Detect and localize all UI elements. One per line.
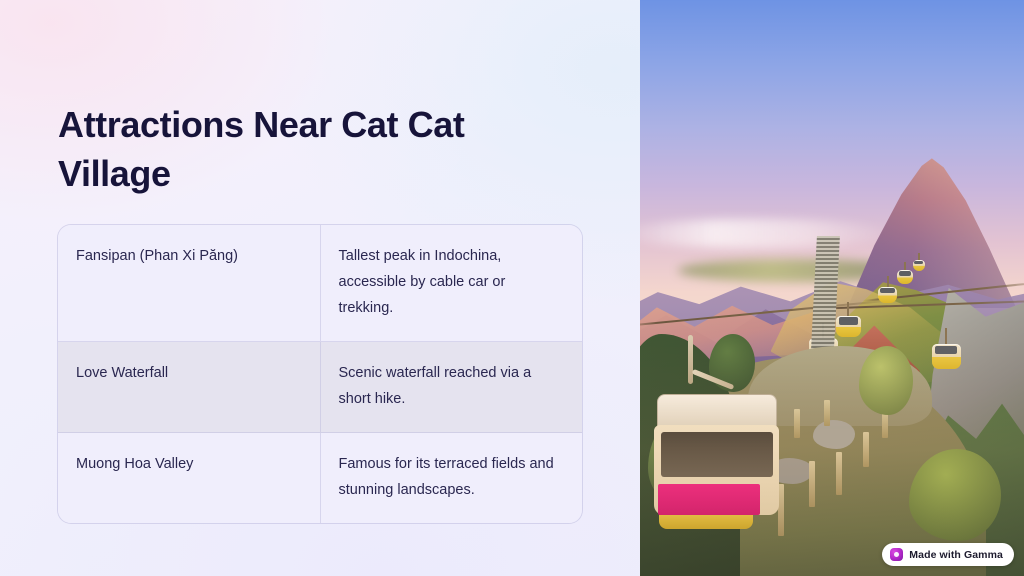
gondola-skirt xyxy=(659,515,753,529)
bush xyxy=(909,449,1001,541)
gondola xyxy=(878,276,897,302)
gamma-logo-icon xyxy=(890,548,903,561)
gondola-arm xyxy=(688,335,693,383)
cloud-band xyxy=(640,219,893,248)
wooden-post xyxy=(794,409,800,438)
page-title: Attractions Near Cat Cat Village xyxy=(58,100,578,198)
rock xyxy=(813,420,855,449)
image-pane: Made with Gamma xyxy=(640,0,1024,576)
gondola-window xyxy=(839,317,858,324)
gondola-roof xyxy=(657,394,777,429)
gondola-window xyxy=(880,288,895,294)
gondola-window xyxy=(935,346,957,354)
wooden-post xyxy=(809,461,815,507)
gondola-hanger xyxy=(887,276,889,287)
gondola-cabin xyxy=(913,260,925,271)
gondola-hanger xyxy=(945,328,947,344)
gondola-window xyxy=(899,271,911,276)
mountain-cable-car-photo xyxy=(640,0,1024,576)
bush xyxy=(859,346,913,415)
gondola-cabin xyxy=(878,287,897,303)
attraction-description-cell: Scenic waterfall reached via a short hik… xyxy=(320,342,582,433)
slide: Attractions Near Cat Cat Village Fansipa… xyxy=(0,0,1024,576)
gondola-arm xyxy=(691,369,734,390)
gondola-cabin xyxy=(836,316,861,337)
attractions-table: Fansipan (Phan Xi Păng) Tallest peak in … xyxy=(58,225,582,523)
content-pane: Attractions Near Cat Cat Village Fansipa… xyxy=(0,0,640,576)
gondola-window xyxy=(661,432,773,477)
attraction-name-cell: Love Waterfall xyxy=(58,342,320,433)
gamma-badge-label: Made with Gamma xyxy=(909,549,1003,561)
attraction-description-cell: Tallest peak in Indochina, accessible by… xyxy=(320,225,582,342)
made-with-gamma-badge[interactable]: Made with Gamma xyxy=(882,543,1014,566)
wooden-post xyxy=(836,452,842,495)
wooden-post xyxy=(824,400,830,426)
table-row: Muong Hoa Valley Famous for its terraced… xyxy=(58,433,582,524)
wooden-post xyxy=(863,432,869,467)
table-row: Fansipan (Phan Xi Păng) Tallest peak in … xyxy=(58,225,582,342)
attraction-name-cell: Fansipan (Phan Xi Păng) xyxy=(58,225,320,342)
gondola-hanger xyxy=(847,302,849,316)
table-row: Love Waterfall Scenic waterfall reached … xyxy=(58,342,582,433)
attraction-name-cell: Muong Hoa Valley xyxy=(58,433,320,524)
gondola xyxy=(897,262,912,284)
gondola-window xyxy=(914,261,923,265)
gondola xyxy=(913,253,925,270)
gondola-cabin xyxy=(897,270,912,284)
gondola xyxy=(932,328,961,368)
gondola-cabin xyxy=(932,344,961,369)
attraction-description-cell: Famous for its terraced fields and stunn… xyxy=(320,433,582,524)
gondola-pink-panel xyxy=(658,484,760,515)
foreground-gondola xyxy=(652,363,783,536)
gondola xyxy=(836,302,861,337)
